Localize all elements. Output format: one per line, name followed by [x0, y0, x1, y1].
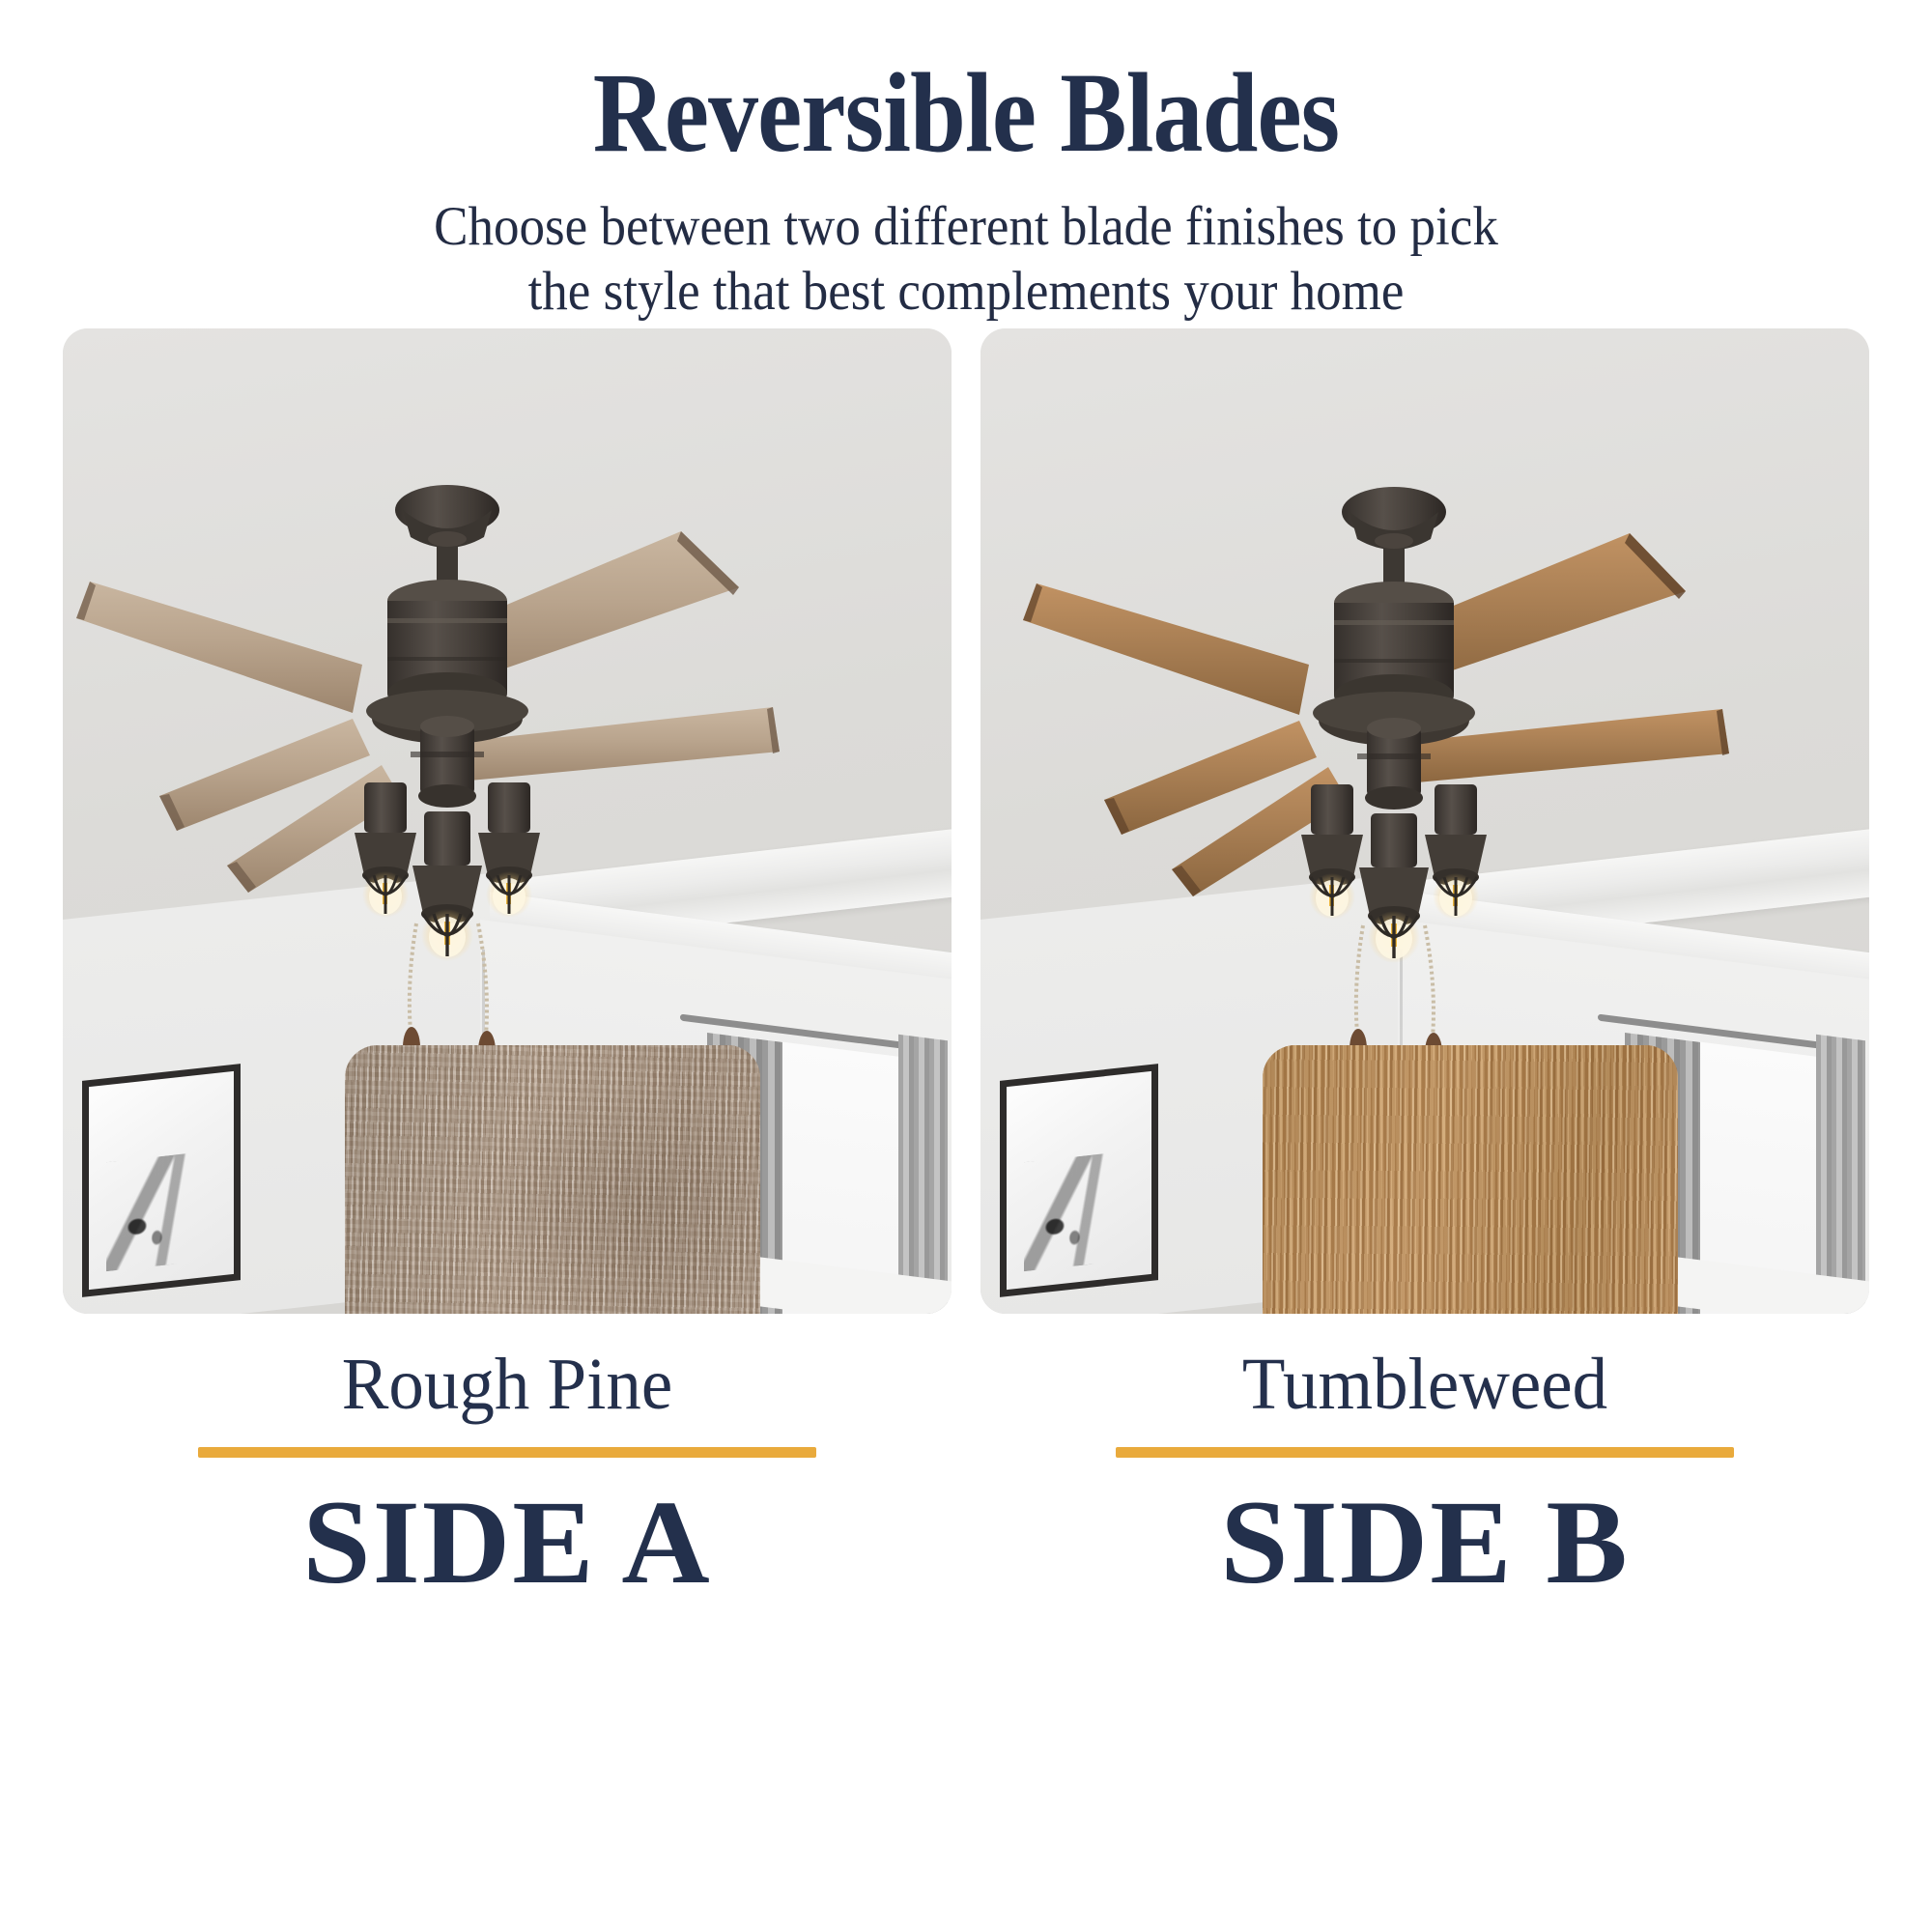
- light-fixture-center: [412, 811, 482, 961]
- finish-swatch-side-b: [1263, 1045, 1678, 1314]
- product-photo-side-b: [980, 328, 1869, 1314]
- side-label-b: SIDE B: [972, 1483, 1878, 1603]
- panel-side-a: [63, 328, 952, 1314]
- caption-side-a: Rough Pine SIDE A: [63, 1348, 952, 1603]
- finish-name-side-b: Tumbleweed: [998, 1348, 1851, 1421]
- panel-side-b: [980, 328, 1869, 1314]
- infographic-page: Reversible Blades Choose between two dif…: [0, 0, 1932, 1932]
- finish-name-side-a: Rough Pine: [80, 1348, 933, 1421]
- page-title: Reversible Blades: [116, 56, 1816, 170]
- gold-divider-side-b: [1116, 1447, 1734, 1458]
- comparison-panels: [0, 328, 1932, 1314]
- subtitle-line-2: the style that best complements your hom…: [266, 260, 1667, 325]
- light-fixture-right: [1425, 784, 1487, 920]
- gold-divider-side-a: [198, 1447, 816, 1458]
- fan-downrod-and-canopy: [395, 485, 499, 593]
- product-photo-side-a: [63, 328, 952, 1314]
- fan-downrod-and-canopy: [1342, 487, 1446, 595]
- light-fixture-right: [478, 782, 540, 918]
- subtitle-line-1: Choose between two different blade finis…: [266, 195, 1667, 260]
- finish-swatch-side-a: [345, 1045, 760, 1314]
- tumbleweed-wood-swatch: [1263, 1045, 1678, 1314]
- side-label-a: SIDE A: [54, 1483, 960, 1603]
- captions: Rough Pine SIDE A Tumbleweed SIDE B: [0, 1348, 1932, 1603]
- header: Reversible Blades Choose between two dif…: [0, 0, 1932, 324]
- rough-pine-wood-swatch: [345, 1045, 760, 1314]
- page-subtitle: Choose between two different blade finis…: [266, 195, 1667, 324]
- caption-side-b: Tumbleweed SIDE B: [980, 1348, 1869, 1603]
- light-fixture-center: [1359, 813, 1429, 963]
